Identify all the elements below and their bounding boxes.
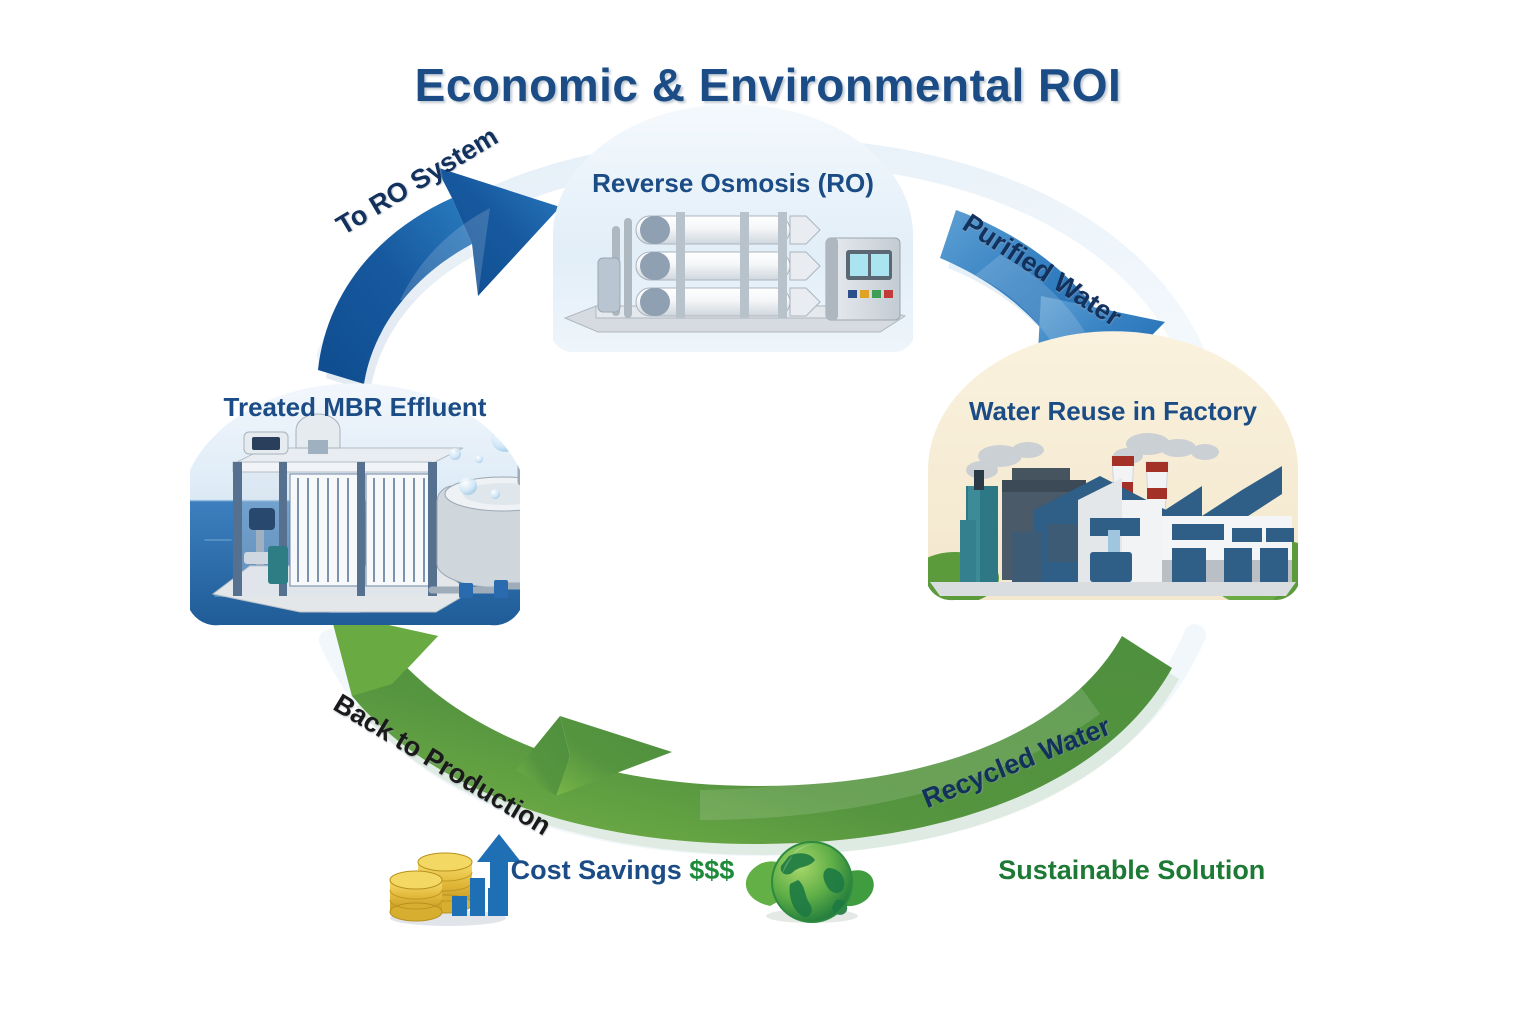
legend-item-sustainable-solution: Sustainable Solution: [890, 855, 1265, 886]
legend-label-cost-savings-suffix: $$$: [689, 855, 734, 885]
node-water-reuse-in-factory-illustration: [911, 331, 1326, 604]
legend-label-sustainable-solution: Sustainable Solution: [998, 855, 1265, 886]
legend-label-cost-savings: Cost Savings $$$: [511, 855, 735, 886]
legend-item-cost-savings: Cost Savings $$$: [367, 855, 735, 886]
legend-label-cost-savings-text: Cost Savings: [511, 855, 690, 885]
node-reverse-osmosis-illustration: [553, 104, 913, 352]
legend: Cost Savings $$$ Sustainable Solution: [0, 855, 1536, 886]
node-label-factory: Water Reuse in Factory: [928, 396, 1298, 427]
node-label-ro: Reverse Osmosis (RO): [553, 168, 913, 199]
diagram-canvas: Economic & Environmental ROI: [0, 0, 1536, 1024]
node-label-mbr: Treated MBR Effluent: [190, 392, 520, 423]
